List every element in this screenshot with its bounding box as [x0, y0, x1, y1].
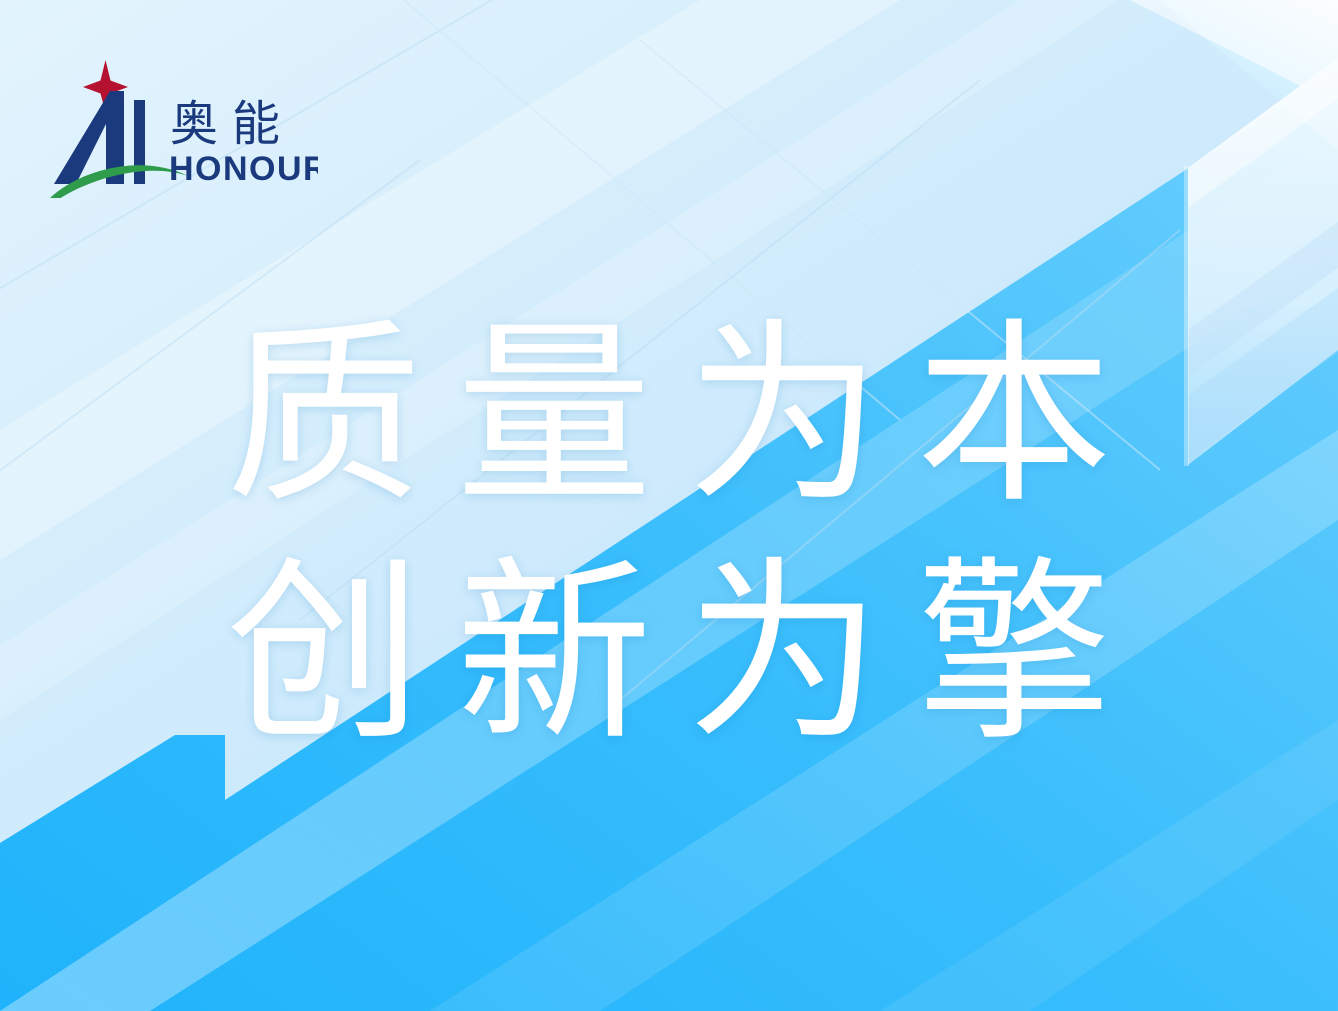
slide-canvas: 奥能 HONOUR 质量为本 创新为擎 [0, 0, 1338, 1011]
brand-logo[interactable]: 奥能 HONOUR [48, 58, 318, 198]
logo-brand-cn: 奥能 [170, 98, 294, 151]
logo-brand-en: HONOUR [169, 150, 318, 188]
brand-logo-svg: 奥能 HONOUR [48, 58, 318, 198]
bg-right-panel-edge [1184, 166, 1189, 466]
